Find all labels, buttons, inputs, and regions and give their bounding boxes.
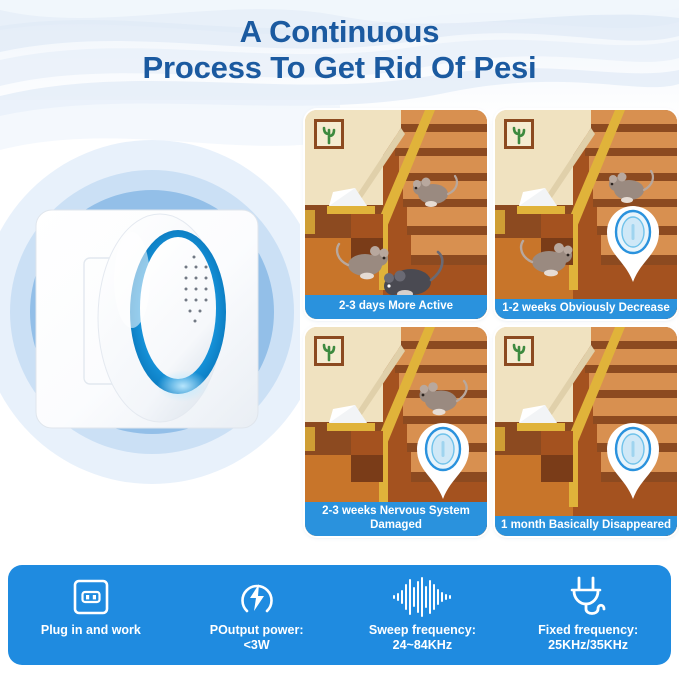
outlet-icon [70, 574, 112, 620]
stage-card-2-label-line-1: 1-2 weeks [502, 302, 556, 314]
stage-card-1-label: 2-3 days More Active [305, 295, 487, 320]
page-header: A Continuous Process To Get Rid Of Pesi [0, 0, 679, 100]
ultrasonic-repeller-photo [0, 100, 300, 555]
scene-illustration-2 [495, 110, 677, 319]
stage-card-1[interactable]: 2-3 days More Active [305, 110, 487, 319]
feature-2-line-2: <3W [210, 638, 304, 653]
timeline-cards-grid: 2-3 days More Active [305, 110, 677, 550]
page-title-line-2: Process To Get Rid Of Pesi [143, 50, 537, 86]
stage-card-2-label: 1-2 weeks Obviously Decrease [495, 299, 677, 320]
stage-card-2[interactable]: 1-2 weeks Obviously Decrease [495, 110, 677, 319]
feature-fixed-frequency: Fixed frequency: 25KHz/35KHz [505, 565, 671, 665]
feature-plug-in-and-work-text: Plug in and work [41, 623, 141, 638]
stage-card-3[interactable]: 2-3 weeks Nervous System Damaged [305, 327, 487, 536]
stage-card-3-label-line-1: 2-3 weeks Nervous [322, 505, 426, 517]
product-image-panel [0, 100, 300, 555]
waveform-icon [391, 574, 453, 620]
stage-card-2-label-line-2: Obviously Decrease [560, 302, 670, 314]
page-title-line-1: A Continuous [240, 14, 440, 50]
feature-output-power: POutput power: <3W [174, 565, 340, 665]
feature-spec-bar: Plug in and work POutput power: <3W [8, 565, 671, 665]
feature-sweep-frequency-text: Sweep frequency: 24~84KHz [369, 623, 476, 653]
plug-icon [565, 574, 611, 620]
feature-4-line-2: 25KHz/35KHz [538, 638, 638, 653]
lightning-bolt-icon [235, 574, 279, 620]
feature-fixed-frequency-text: Fixed frequency: 25KHz/35KHz [538, 623, 638, 653]
stage-card-4-label-line-1: 1 month [501, 519, 546, 531]
feature-2-line-1: POutput power: [210, 623, 304, 637]
feature-3-line-1: Sweep frequency: [369, 623, 476, 637]
stage-card-4[interactable]: 1 month Basically Disappeared [495, 327, 677, 536]
stage-card-4-label-line-2: Basically Disappeared [549, 519, 671, 531]
stage-card-4-label: 1 month Basically Disappeared [495, 516, 677, 537]
feature-output-power-text: POutput power: <3W [210, 623, 304, 653]
scene-illustration-4 [495, 327, 677, 536]
feature-4-line-1: Fixed frequency: [538, 623, 638, 637]
feature-3-line-2: 24~84KHz [369, 638, 476, 653]
scene-illustration-1 [305, 110, 487, 319]
feature-plug-in-and-work: Plug in and work [8, 565, 174, 665]
feature-sweep-frequency: Sweep frequency: 24~84KHz [340, 565, 506, 665]
feature-1-line-1: Plug in and work [41, 623, 141, 637]
stage-card-3-label: 2-3 weeks Nervous System Damaged [305, 502, 487, 536]
stage-card-1-label-line-1: 2-3 days More Active [339, 300, 453, 312]
